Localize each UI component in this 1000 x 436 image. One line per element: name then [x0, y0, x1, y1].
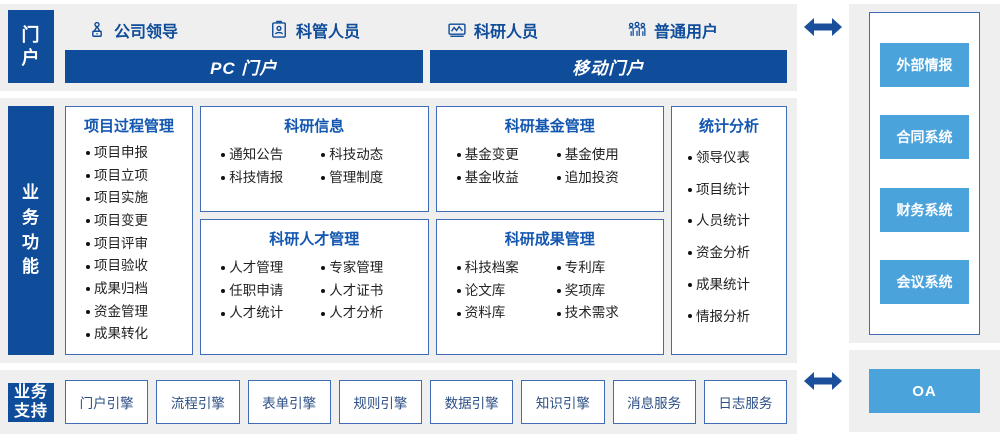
bullet-item[interactable]: 专利库 [557, 257, 643, 280]
id-badge-icon [269, 20, 289, 40]
user-group-icon [627, 20, 647, 40]
bullet-column: 科技动态 管理制度 [321, 144, 407, 189]
business-support-band: 业务 支持 门户引擎 流程引擎 表单引擎 规则引擎 数据引擎 知识引擎 消息服务… [0, 370, 797, 434]
func-label-char-3: 功 [22, 231, 40, 256]
bullet-item[interactable]: 成果归档 [86, 278, 186, 301]
card-stack-fund-result: 科研基金管理 基金变更 基金收益 基金使用 追加投资 [436, 106, 665, 355]
external-systems-column: 外部情报 合同系统 财务系统 会议系统 OA [849, 0, 1000, 436]
bullet-column: 基金使用 追加投资 [557, 144, 643, 189]
bullet-column: 专利库 奖项库 技术需求 [557, 257, 643, 325]
business-support-label: 业务 支持 [8, 383, 54, 422]
role-general-user[interactable]: 普通用户 [627, 18, 787, 42]
bullet-item[interactable]: 成果转化 [86, 323, 186, 346]
role-list: 公司领导 科管人员 [65, 10, 787, 50]
chart-monitor-icon [447, 20, 467, 40]
bullet-column: 通知公告 科技情报 [221, 144, 307, 189]
bullet-column: 人才管理 任职申请 人才统计 [221, 257, 307, 325]
bullet-item[interactable]: 科技情报 [221, 167, 307, 190]
bullet-item[interactable]: 项目统计 [688, 174, 780, 206]
bullet-item[interactable]: 追加投资 [557, 167, 643, 190]
card-title: 项目过程管理 [72, 115, 186, 136]
engine-form[interactable]: 表单引擎 [248, 380, 331, 424]
func-label-char-2: 务 [22, 206, 40, 231]
support-label-line-1: 业务 [14, 383, 48, 403]
card-project-process[interactable]: 项目过程管理 项目申报 项目立项 项目实施 项目变更 项目评审 项目验收 成果归… [65, 106, 193, 355]
bullet-columns: 人才管理 任职申请 人才统计 专家管理 人才证书 人才分析 [207, 257, 422, 325]
card-research-talent[interactable]: 科研人才管理 人才管理 任职申请 人才统计 专家管理 人才证书 人才分析 [200, 219, 429, 355]
func-label-char-4: 能 [22, 255, 40, 280]
bullet-item[interactable]: 基金收益 [457, 167, 543, 190]
bullet-item[interactable]: 项目立项 [86, 165, 186, 188]
role-company-leader[interactable]: 公司领导 [87, 18, 269, 42]
bullet-column: 基金变更 基金收益 [457, 144, 543, 189]
engine-portal[interactable]: 门户引擎 [65, 380, 148, 424]
service-message[interactable]: 消息服务 [613, 380, 696, 424]
role-label: 公司领导 [114, 18, 178, 42]
card-research-info[interactable]: 科研信息 通知公告 科技情报 科技动态 管理制度 [200, 106, 429, 212]
bidirectional-arrow-icon [802, 368, 844, 394]
bullet-item[interactable]: 人员统计 [688, 205, 780, 237]
engine-knowledge[interactable]: 知识引擎 [521, 380, 604, 424]
portal-band-label: 门 户 [8, 10, 54, 83]
system-external-intel[interactable]: 外部情报 [880, 43, 969, 87]
bullet-columns: 通知公告 科技情报 科技动态 管理制度 [207, 144, 422, 189]
main-column: 门 户 公司领导 [0, 0, 797, 436]
card-stack-info-talent: 科研信息 通知公告 科技情报 科技动态 管理制度 [200, 106, 429, 355]
oa-band: OA [849, 350, 1000, 432]
card-title: 统计分析 [678, 115, 780, 136]
bullet-item[interactable]: 管理制度 [321, 167, 407, 190]
portal-body: 公司领导 科管人员 [65, 10, 787, 83]
engine-workflow[interactable]: 流程引擎 [156, 380, 239, 424]
bullet-item[interactable]: 人才证书 [321, 280, 407, 303]
external-systems-band: 外部情报 合同系统 财务系统 会议系统 [849, 4, 1000, 343]
portal-label-char-2: 户 [22, 47, 41, 70]
bullet-item[interactable]: 项目申报 [86, 142, 186, 165]
bullet-columns: 基金变更 基金收益 基金使用 追加投资 [443, 144, 658, 189]
engine-data[interactable]: 数据引擎 [430, 380, 513, 424]
card-research-result[interactable]: 科研成果管理 科技档案 论文库 资料库 专利库 奖项库 技术需求 [436, 219, 665, 355]
card-title: 科研成果管理 [443, 228, 658, 249]
card-title: 科研信息 [207, 115, 422, 136]
card-statistics-analysis[interactable]: 统计分析 领导仪表 项目统计 人员统计 资金分析 成果统计 情报分析 [671, 106, 787, 355]
bullet-item[interactable]: 资金分析 [688, 237, 780, 269]
func-label-char-1: 业 [22, 181, 40, 206]
portal-label-char-1: 门 [22, 24, 41, 47]
bullet-item[interactable]: 领导仪表 [688, 142, 780, 174]
card-title: 科研人才管理 [207, 228, 422, 249]
portal-bar-list: PC 门户 移动门户 [65, 50, 787, 83]
bullet-item[interactable]: 科技动态 [321, 144, 407, 167]
system-meeting[interactable]: 会议系统 [880, 260, 969, 304]
engine-list: 门户引擎 流程引擎 表单引擎 规则引擎 数据引擎 知识引擎 消息服务 日志服务 [65, 380, 787, 424]
support-label-line-2: 支持 [14, 402, 48, 422]
external-systems-panel: 外部情报 合同系统 财务系统 会议系统 [869, 12, 980, 335]
architecture-diagram: 门 户 公司领导 [0, 0, 1000, 436]
card-title: 科研基金管理 [443, 115, 658, 136]
connector-strip [797, 0, 849, 436]
bullet-item[interactable]: 项目变更 [86, 210, 186, 233]
mobile-portal-bar[interactable]: 移动门户 [430, 50, 788, 83]
bullet-column: 领导仪表 项目统计 人员统计 资金分析 成果统计 情报分析 [678, 142, 780, 332]
bidirectional-arrow-icon [802, 14, 844, 40]
system-oa[interactable]: OA [869, 369, 980, 413]
bullet-item[interactable]: 基金变更 [457, 144, 543, 167]
business-function-band: 业 务 功 能 项目过程管理 项目申报 项目立项 项目实施 项目变更 项目评审 [0, 98, 797, 363]
bullet-columns: 科技档案 论文库 资料库 专利库 奖项库 技术需求 [443, 257, 658, 325]
system-finance[interactable]: 财务系统 [880, 188, 969, 232]
role-research-admin[interactable]: 科管人员 [269, 18, 447, 42]
function-card-grid: 项目过程管理 项目申报 项目立项 项目实施 项目变更 项目评审 项目验收 成果归… [65, 106, 787, 355]
bullet-item[interactable]: 任职申请 [221, 280, 307, 303]
bullet-column: 专家管理 人才证书 人才分析 [321, 257, 407, 325]
bullet-item[interactable]: 科技档案 [457, 257, 543, 280]
leader-icon [87, 20, 107, 40]
bullet-item[interactable]: 人才管理 [221, 257, 307, 280]
bullet-item[interactable]: 专家管理 [321, 257, 407, 280]
bullet-item[interactable]: 资金管理 [86, 301, 186, 324]
role-label: 普通用户 [654, 18, 718, 42]
bullet-item[interactable]: 项目评审 [86, 233, 186, 256]
role-researcher[interactable]: 科研人员 [447, 18, 627, 42]
engine-rule[interactable]: 规则引擎 [339, 380, 422, 424]
bullet-item[interactable]: 技术需求 [557, 302, 643, 325]
bullet-column: 科技档案 论文库 资料库 [457, 257, 543, 325]
bullet-item[interactable]: 论文库 [457, 280, 543, 303]
bullet-item[interactable]: 项目实施 [86, 187, 186, 210]
bullet-item[interactable]: 成果统计 [688, 269, 780, 301]
business-function-label: 业 务 功 能 [8, 106, 54, 355]
pc-portal-bar[interactable]: PC 门户 [65, 50, 423, 83]
portal-band: 门 户 公司领导 [0, 4, 797, 91]
role-label: 科管人员 [296, 18, 360, 42]
bullet-item[interactable]: 项目验收 [86, 255, 186, 278]
bullet-item[interactable]: 人才分析 [321, 302, 407, 325]
bullet-column: 项目申报 项目立项 项目实施 项目变更 项目评审 项目验收 成果归档 资金管理 … [72, 142, 186, 346]
bullet-item[interactable]: 通知公告 [221, 144, 307, 167]
bullet-item[interactable]: 奖项库 [557, 280, 643, 303]
bullet-item[interactable]: 资料库 [457, 302, 543, 325]
card-research-fund[interactable]: 科研基金管理 基金变更 基金收益 基金使用 追加投资 [436, 106, 665, 212]
bullet-item[interactable]: 情报分析 [688, 301, 780, 333]
role-label: 科研人员 [474, 18, 538, 42]
bullet-item[interactable]: 人才统计 [221, 302, 307, 325]
bullet-item[interactable]: 基金使用 [557, 144, 643, 167]
service-log[interactable]: 日志服务 [704, 380, 787, 424]
system-contract[interactable]: 合同系统 [880, 115, 969, 159]
